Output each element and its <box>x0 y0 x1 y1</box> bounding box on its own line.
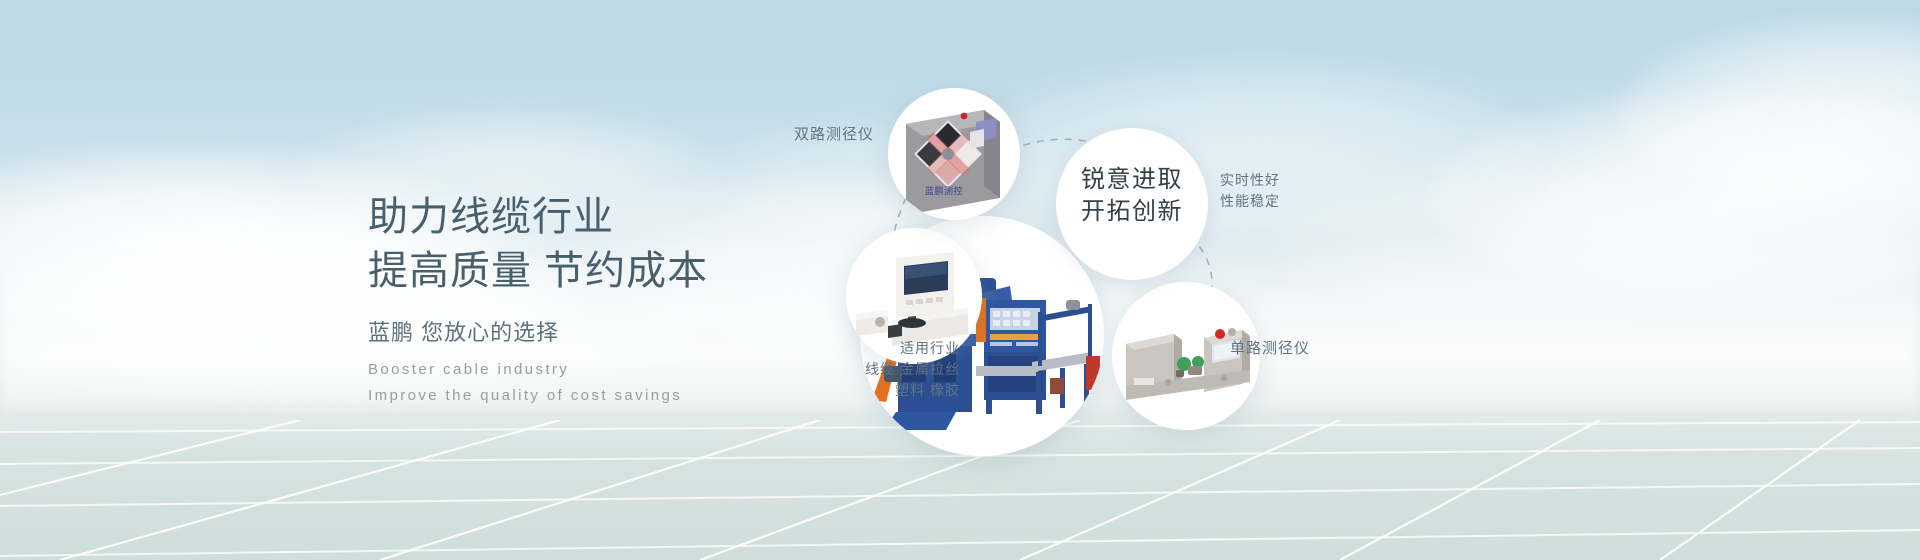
label-industries-line-1: 适用行业 <box>800 338 960 359</box>
label-industries-line-3: 塑料 橡胶 <box>800 380 960 401</box>
label-dual-path-gauge: 双路测径仪 <box>794 124 874 146</box>
slogan-line-1: 锐意进取 <box>1064 164 1200 196</box>
label-industries-line-2: 线缆 金属拉丝 <box>800 359 960 380</box>
product-diagram: 蓝鹏测控 <box>860 0 1920 560</box>
device-brand-text: 蓝鹏测控 <box>925 185 963 196</box>
label-feature-line-2: 性能稳定 <box>1220 191 1280 212</box>
hero-banner: 助力线缆行业 提高质量 节约成本 蓝鹏 您放心的选择 Booster cable… <box>0 0 1920 560</box>
label-feature-line-1: 实时性好 <box>1220 170 1280 191</box>
label-single-path-gauge: 单路测径仪 <box>1230 338 1310 360</box>
slogan-line-2: 开拓创新 <box>1064 196 1200 228</box>
dual-path-gauge-bubble: 蓝鹏测控 <box>888 88 1020 220</box>
dual-path-gauge-illustration: 蓝鹏测控 <box>888 88 1020 220</box>
